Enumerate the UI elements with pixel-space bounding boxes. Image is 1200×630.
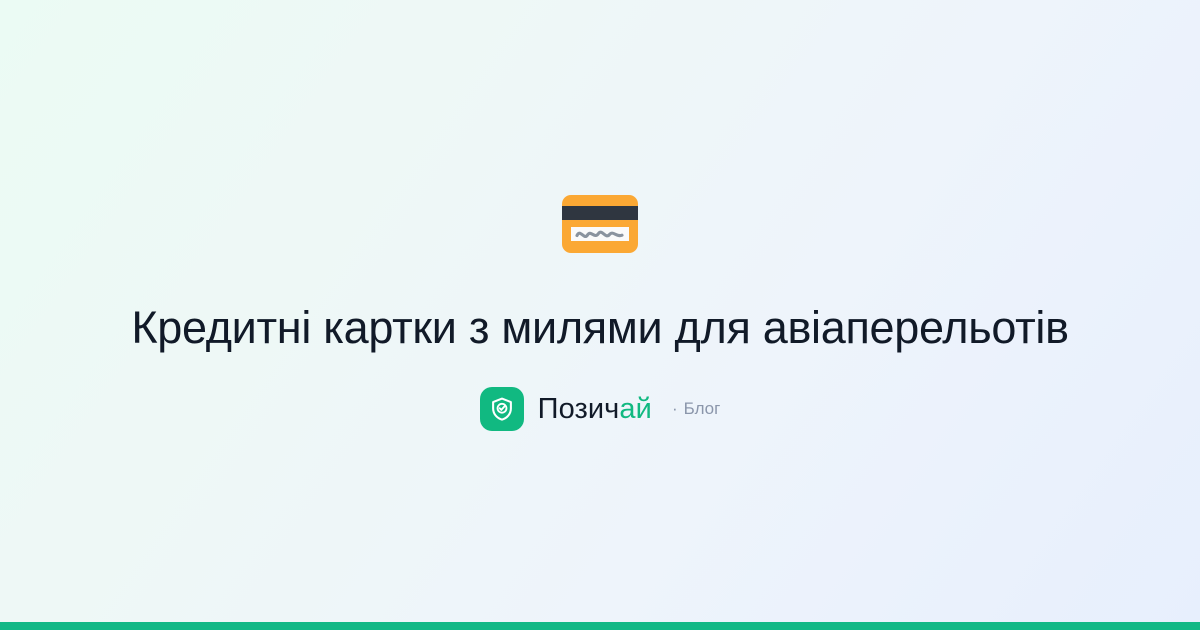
brand-name-prefix: Позич [538, 393, 620, 425]
brand-name-accent: ай [619, 393, 652, 425]
brand-section-label: Блог [684, 399, 721, 419]
brand-accent-bar-bottom [0, 622, 1200, 630]
brand-section[interactable]: ·Блог [672, 399, 720, 419]
separator-dot: · [672, 399, 678, 419]
shield-check-icon [489, 396, 515, 422]
brand-logo-badge[interactable] [480, 387, 524, 431]
brand-row[interactable]: Позичай ·Блог [480, 387, 721, 431]
og-preview-card: Кредитні картки з милями для авіаперельо… [0, 0, 1200, 630]
hero-content: Кредитні картки з милями для авіаперельо… [0, 195, 1200, 432]
credit-card-icon [562, 195, 638, 253]
page-title: Кредитні картки з милями для авіаперельо… [131, 301, 1068, 356]
gradient-accent-bar-top [0, 0, 1200, 8]
brand-name[interactable]: Позичай [538, 393, 652, 426]
